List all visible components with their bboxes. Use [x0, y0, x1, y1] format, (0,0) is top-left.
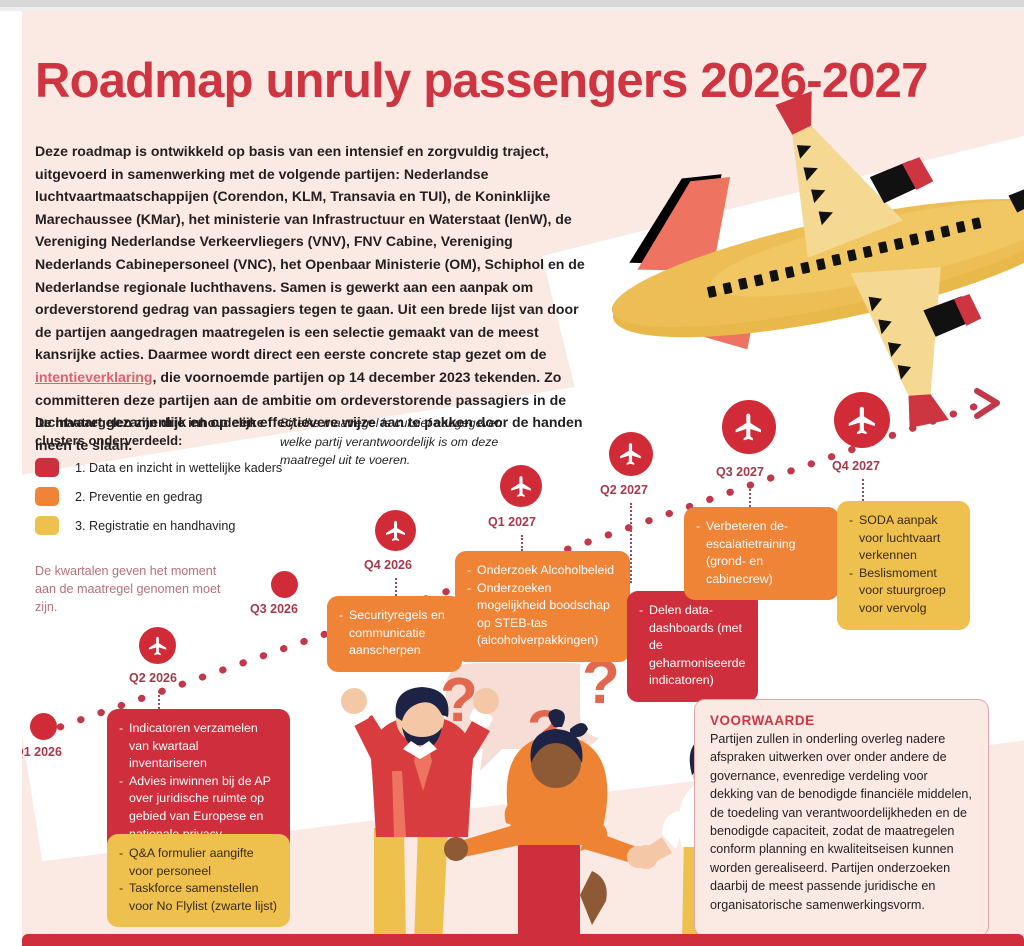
legend-item-registratie: 3. Registratie en handhaving [35, 513, 282, 538]
plane-icon [846, 404, 879, 437]
plane-icon [384, 519, 408, 543]
poster-canvas: ? ? ? [22, 11, 1024, 946]
measure-item: Onderzoeken mogelijkheid boodschap op ST… [467, 580, 618, 650]
leader-line-q2-2026 [158, 691, 160, 709]
voorwaarde-title: VOORWAARDE [710, 713, 973, 728]
measure-item: Onderzoek Alcoholbeleid [467, 562, 618, 580]
legend-item-label: 1. Data en inzicht in wettelijke kaders [75, 461, 282, 475]
plane-icon [509, 474, 534, 499]
milestone-node-q2-2027[interactable] [609, 432, 653, 476]
measure-box-q3-2027[interactable]: Verbeteren de-escalatietraining (grond- … [684, 507, 839, 600]
measure-item: Verbeteren de-escalatietraining (grond- … [696, 518, 827, 588]
measure-item: Securityregels en communicatie aanscherp… [339, 607, 450, 660]
legend-item-label: 2. Preventie en gedrag [75, 490, 202, 504]
milestone-label-q1-2027: Q1 2027 [488, 515, 536, 529]
measure-box-q4-2026[interactable]: Securityregels en communicatie aanscherp… [327, 596, 462, 672]
milestone-label-q2-2027: Q2 2027 [600, 483, 648, 497]
milestone-node-q1-2026[interactable] [30, 713, 57, 740]
page-title: Roadmap unruly passengers 2026-2027 [35, 53, 928, 109]
measure-item: Indicatoren verzamelen van kwartaal inve… [119, 720, 278, 773]
milestone-node-q3-2026[interactable] [271, 571, 298, 598]
voorwaarde-panel: VOORWAARDE Partijen zullen in onderling … [694, 699, 989, 937]
airplane-illustration [580, 54, 1024, 472]
leader-line-q3-2027 [749, 485, 751, 507]
cursief-note: Bij elke maatregel is cursief aangegeven… [280, 414, 510, 470]
intro-paragraph: Deze roadmap is ontwikkeld op basis van … [35, 140, 590, 456]
intro-text-before: Deze roadmap is ontwikkeld op basis van … [35, 143, 585, 362]
cluster-swatch-red [35, 458, 59, 477]
measure-box-q2-2027[interactable]: Delen data-dashboards (met de geharmonis… [627, 591, 758, 702]
legend-item-data: 1. Data en inzicht in wettelijke kaders [35, 455, 282, 480]
milestone-node-q2-2026[interactable] [139, 627, 176, 664]
bottom-accent-bar [22, 934, 1024, 946]
leader-line-q1-2027 [521, 535, 523, 551]
legend-item-preventie: 2. Preventie en gedrag [35, 484, 282, 509]
milestone-label-q4-2027: Q4 2027 [832, 459, 880, 473]
leader-line-q2-2027 [630, 503, 632, 583]
measure-item: Beslismoment voor stuurgroep voor vervol… [849, 565, 958, 618]
milestone-node-q4-2026[interactable] [375, 510, 416, 551]
milestone-label-q3-2027: Q3 2027 [716, 465, 764, 479]
plane-icon [618, 441, 644, 467]
intentieverklaring-link[interactable]: intentieverklaring [35, 369, 153, 385]
kwartaal-note: De kwartalen geven het moment aan de maa… [35, 562, 225, 616]
milestone-label-q3-2026: Q3 2026 [250, 602, 298, 616]
top-chrome-strip-2 [0, 7, 1024, 11]
milestone-label-q1-2026: Q1 2026 [22, 745, 62, 759]
leader-line-q4-2026 [395, 578, 397, 596]
infographic-page: ? ? ? [0, 0, 1024, 946]
milestone-node-q4-2027[interactable] [834, 392, 890, 448]
cluster-swatch-yellow [35, 516, 59, 535]
measure-item: Taskforce samenstellen voor No Flylist (… [119, 880, 278, 915]
measure-box-q2-2026-yellow[interactable]: Q&A formulier aangifte voor personeel Ta… [107, 834, 290, 927]
milestone-node-q1-2027[interactable] [500, 465, 542, 507]
plane-icon [147, 635, 169, 657]
measure-item: SODA aanpak voor luchtvaart verkennen [849, 512, 958, 565]
top-chrome-strip [0, 0, 1024, 7]
milestone-label-q4-2026: Q4 2026 [364, 558, 412, 572]
milestone-node-q3-2027[interactable] [722, 400, 776, 454]
left-margin-strip [0, 11, 22, 946]
measure-item: Delen data-dashboards (met de geharmonis… [639, 602, 746, 690]
cluster-swatch-orange [35, 487, 59, 506]
person-left [341, 687, 499, 946]
leader-line-q4-2027 [862, 479, 864, 501]
legend-list: 1. Data en inzicht in wettelijke kaders … [35, 455, 282, 542]
milestone-label-q2-2026: Q2 2026 [129, 671, 177, 685]
legend-heading: De maatregelen zijn drie inhoudelijke cl… [35, 414, 275, 450]
voorwaarde-body: Partijen zullen in onderling overleg nad… [710, 730, 973, 914]
measure-box-q4-2027[interactable]: SODA aanpak voor luchtvaart verkennen Be… [837, 501, 970, 630]
legend-item-label: 3. Registratie en handhaving [75, 519, 235, 533]
plane-icon [733, 411, 765, 443]
measure-item: Q&A formulier aangifte voor personeel [119, 845, 278, 880]
measure-box-q1-2027[interactable]: Onderzoek Alcoholbeleid Onderzoeken moge… [455, 551, 630, 662]
